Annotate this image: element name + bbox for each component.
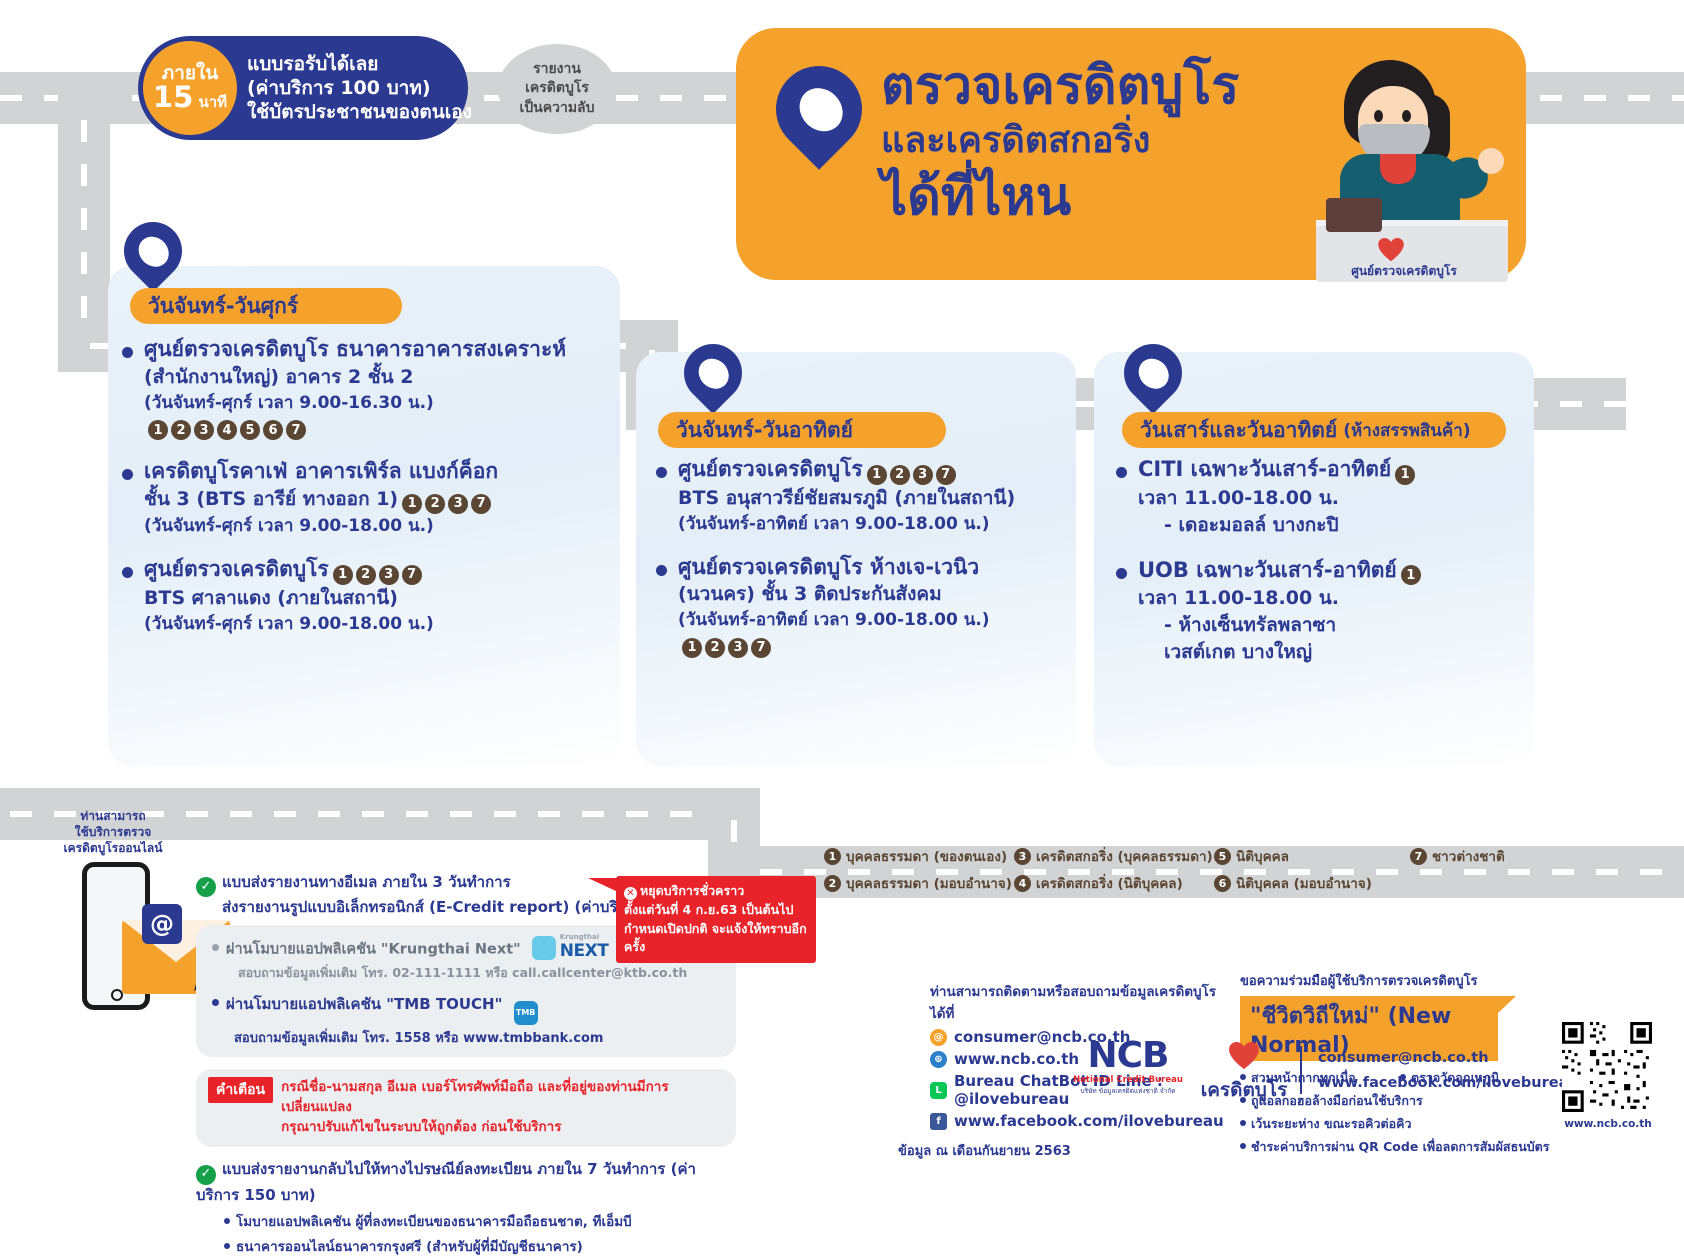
heart-icon-footer: [1229, 1042, 1259, 1070]
list-weekday: ศูนย์ตรวจเครดิตบูโร ธนาคารอาคารสงเคราะห์…: [118, 336, 618, 654]
krungthai-mark-icon: [532, 936, 556, 960]
location-name: ศูนย์ตรวจเครดิตบูโร ห้างเจ-เวนิว: [652, 554, 1072, 582]
qr-code-label: www.ncb.co.th: [1558, 1118, 1658, 1130]
location-name: UOB เฉพาะวันเสาร์-อาทิตย์1: [1112, 557, 1532, 586]
service-type-badge: 1: [682, 638, 702, 658]
legend-item: 1บุคคลธรรมดา (ของตนเอง): [824, 845, 1014, 867]
suspended-line3: กำหนดเปิดปกติ จะแจ้งให้ทราบอีกครั้ง: [624, 920, 808, 958]
bullet-dot-blue: [212, 999, 219, 1006]
service-type-badge: 1: [867, 465, 887, 485]
location-name: ศูนย์ตรวจเครดิตบูโร1237: [118, 556, 618, 585]
service-type-badge: 7: [402, 565, 422, 585]
ncb-wordmark: NCB: [1068, 1038, 1188, 1074]
header-weekend-label: วันเสาร์และวันอาทิตย์: [1140, 414, 1337, 447]
legend-badge: 5: [1214, 848, 1231, 865]
suspended-line1: ✕หยุดบริการชั่วคราว: [624, 882, 808, 901]
legend-badge: 3: [1014, 848, 1031, 865]
online-label-line2: ใช้บริการตรวจ: [58, 824, 168, 840]
new-normal-item: ชำระค่าบริการผ่าน QR Code เพื่อลดการสัมผ…: [1240, 1137, 1560, 1157]
wait-service-pill: ภายใน 15 นาที แบบรอรับได้เลย (ค่าบริการ …: [138, 36, 468, 140]
location-detail-label: เวลา 11.00-18.00 น.: [1138, 587, 1339, 609]
service-type-badge: 3: [913, 465, 933, 485]
footer-divider: [1300, 1046, 1302, 1094]
legend-badge: 6: [1214, 875, 1231, 892]
legend-label: บุคคลธรรมดา (ของตนเอง): [846, 845, 1007, 867]
new-normal-item: เว้นระยะห่าง ขณะรอคิวต่อคิว: [1240, 1114, 1560, 1134]
contact-title: ท่านสามารถติดตามหรือสอบถามข้อมูลเครดิตบู…: [930, 980, 1220, 1024]
warning-line1: กรณีชื่อ-นามสกุล อีเมล เบอร์โทรศัพท์มือถ…: [281, 1079, 669, 1115]
legend-badge: 7: [1410, 848, 1427, 865]
close-icon: ✕: [624, 887, 637, 900]
legend-item: 7ชาวต่างชาติ: [1410, 845, 1580, 867]
bullet-dot: [1240, 1120, 1246, 1126]
service-type-row: 1234567: [118, 417, 618, 441]
location-entry: เครดิตบูโรคาเฟ่ อาคารเพิร์ล แบงก์ค็อกชั้…: [118, 458, 618, 538]
header-banner: ตรวจเครดิตบูโร และเครดิตสกอริ่ง ได้ที่ไห…: [736, 28, 1526, 280]
wait-service-line1: แบบรอรับได้เลย: [247, 52, 472, 76]
service-type-badge: 3: [194, 420, 214, 440]
online-service-label: ท่านสามารถ ใช้บริการตรวจ เครดิตบูโรออนไล…: [58, 808, 168, 857]
credit-bureau-logo: เครดิตบูโร: [1196, 1042, 1292, 1105]
location-name-label: UOB เฉพาะวันเสาร์-อาทิตย์: [1138, 558, 1397, 582]
location-name-label: เครดิตบูโรคาเฟ่ อาคารเพิร์ล แบงก์ค็อก: [144, 459, 498, 483]
service-type-badge: 1: [402, 494, 422, 514]
new-normal-item-label: เว้นระยะห่าง ขณะรอคิวต่อคิว: [1251, 1116, 1411, 1131]
tmb-logo-icon: TMB: [514, 1001, 538, 1025]
location-detail: เวลา 11.00-18.00 น.: [1112, 585, 1532, 612]
at-symbol-icon: @: [142, 904, 182, 944]
qr-code-icon: [1562, 1022, 1652, 1112]
location-detail-label: (นวนคร) ชั้น 3 ติดประกันสังคม: [678, 583, 942, 605]
ncb-logo: NCB National Credit Bureau บริษัท ข้อมูล…: [1068, 1038, 1188, 1096]
email-title-line1: แบบส่งรายงานทางอีเมล ภายใน 3 วันทำการ: [222, 873, 511, 891]
service-type-badge: 2: [171, 420, 191, 440]
legend-badge: 2: [824, 875, 841, 892]
bullet-dot: [1240, 1143, 1246, 1149]
infographic-canvas: ภายใน 15 นาที แบบรอรับได้เลย (ค่าบริการ …: [0, 0, 1684, 1190]
location-name-label: ศูนย์ตรวจเครดิตบูโร: [678, 457, 863, 481]
location-detail: (นวนคร) ชั้น 3 ติดประกันสังคม: [652, 581, 1072, 608]
location-name: เครดิตบูโรคาเฟ่ อาคารเพิร์ล แบงก์ค็อก: [118, 458, 618, 486]
location-name: ศูนย์ตรวจเครดิตบูโร1237: [652, 456, 1072, 485]
service-type-badges: 1: [1395, 465, 1415, 485]
location-entry: CITI เฉพาะวันเสาร์-อาทิตย์1เวลา 11.00-18…: [1112, 456, 1532, 539]
check-icon-postal: ✓: [196, 1165, 216, 1185]
wait-service-text: แบบรอรับได้เลย (ค่าบริการ 100 บาท) ใช้บั…: [237, 52, 472, 125]
postal-delivery-block: ✓แบบส่งรายงานกลับไปให้ทางไปรษณีย์ลงทะเบี…: [196, 1159, 736, 1256]
header-everyday-label: วันจันทร์-วันอาทิตย์: [676, 414, 853, 447]
within-15-minutes-badge: ภายใน 15 นาที: [143, 41, 237, 135]
header-weekend-sub: (ห้างสรรพสินค้า): [1343, 417, 1470, 444]
heart-icon: [1378, 238, 1404, 262]
service-type-badge: 7: [936, 465, 956, 485]
service-type-badge: 3: [448, 494, 468, 514]
service-type-badges: 1237: [867, 465, 956, 485]
legend-label: ชาวต่างชาติ: [1432, 845, 1505, 867]
service-type-badge: 6: [263, 420, 283, 440]
location-detail: BTS อนุสาวรีย์ชัยสมรภูมิ (ภายในสถานี): [652, 485, 1072, 512]
bullet-dot: [224, 1218, 230, 1224]
location-detail: (สำนักงานใหญ่) อาคาร 2 ชั้น 2: [118, 364, 618, 391]
location-entry: UOB เฉพาะวันเสาร์-อาทิตย์1เวลา 11.00-18.…: [1112, 557, 1532, 666]
location-hours: (วันจันทร์-ศุกร์ เวลา 9.00-18.00 น.): [118, 612, 618, 636]
footer-links: consumer@ncb.co.th www.facebook.com/ilov…: [1318, 1046, 1579, 1095]
legend-badge: 1: [824, 848, 841, 865]
location-name-label: ศูนย์ตรวจเครดิตบูโร ห้างเจ-เวนิว: [678, 555, 979, 579]
postal-item-2-label: ธนาคารออนไลน์ธนาคารกรุงศรี (สำหรับผู้ที่…: [236, 1239, 583, 1255]
legend-label: เครดิตสกอริ่ง (นิติบุคคล): [1036, 872, 1183, 894]
banner-title-line1: ตรวจเครดิตบูโร: [881, 60, 1239, 112]
location-entry: ศูนย์ตรวจเครดิตบูโร ห้างเจ-เวนิว(นวนคร) …: [652, 554, 1072, 658]
legend-item-empty: [1410, 872, 1580, 894]
legend: 1บุคคลธรรมดา (ของตนเอง)3เครดิตสกอริ่ง (บ…: [824, 845, 1584, 894]
legend-badge: 4: [1014, 875, 1031, 892]
location-detail-label: BTS ศาลาแดง (ภายในสถานี): [144, 587, 398, 609]
service-type-badges: 1237: [333, 565, 422, 585]
right-hand: [1478, 148, 1504, 174]
location-hours: (วันจันทร์-อาทิตย์ เวลา 9.00-18.00 น.): [652, 608, 1072, 632]
service-type-badge: 7: [751, 638, 771, 658]
service-type-badge: 7: [471, 494, 491, 514]
service-type-badges: 1237: [402, 494, 491, 514]
location-name-label: ศูนย์ตรวจเครดิตบูโร ธนาคารอาคารสงเคราะห์: [144, 337, 566, 361]
credit-bureau-wordmark: เครดิตบูโร: [1196, 1075, 1292, 1105]
confidential-line2: เครดิตบูโร: [525, 79, 589, 99]
location-hours: (วันจันทร์-อาทิตย์ เวลา 9.00-18.00 น.): [652, 512, 1072, 536]
service-type-badge: 1: [1401, 565, 1421, 585]
legend-label: นิติบุคคล (มอบอำนาจ): [1236, 872, 1372, 894]
location-hours: (วันจันทร์-ศุกร์ เวลา 9.00-18.00 น.): [118, 514, 618, 538]
banner-title-line2: และเครดิตสกอริ่ง: [881, 118, 1239, 163]
list-everyday: ศูนย์ตรวจเครดิตบูโร1237BTS อนุสาวรีย์ชัย…: [652, 456, 1072, 676]
warning-line2: กรุณาปรับแก้ไขในระบบให้ถูกต้อง ก่อนใช้บร…: [281, 1119, 561, 1135]
confidential-line3: เป็นความลับ: [519, 99, 594, 119]
location-detail-label: (สำนักงานใหญ่) อาคาร 2 ชั้น 2: [144, 366, 414, 388]
location-entry: ศูนย์ตรวจเครดิตบูโร1237BTS อนุสาวรีย์ชัย…: [652, 456, 1072, 536]
warning-tag: คำเตือน: [208, 1077, 273, 1103]
tmb-sub: สอบถามข้อมูลเพิ่มเติม โทร. 1558 หรือ www…: [212, 1027, 722, 1048]
location-name-label: CITI เฉพาะวันเสาร์-อาทิตย์: [1138, 457, 1391, 481]
service-type-badge: 5: [240, 420, 260, 440]
service-type-badges: 1: [1401, 565, 1421, 585]
footer-date: ข้อมูล ณ เดือนกันยายน 2563: [898, 1140, 1071, 1161]
krungthai-next-logo: Krungthai NEXT: [532, 934, 609, 961]
at-icon: @: [930, 1029, 947, 1046]
badge-unit: นาที: [199, 93, 228, 111]
legend-item: 5นิติบุคคล: [1214, 845, 1410, 867]
left-eye: [1374, 110, 1383, 122]
contact-item-label: www.facebook.com/ilovebureau: [954, 1112, 1224, 1130]
list-weekend: CITI เฉพาะวันเสาร์-อาทิตย์1เวลา 11.00-18…: [1112, 456, 1532, 684]
legend-item: 3เครดิตสกอริ่ง (บุคคลธรรมดา): [1014, 845, 1214, 867]
suspended-line2: ตั้งแต่วันที่ 4 ก.ย.63 เป็นต้นไป: [624, 901, 808, 920]
location-name-label: ศูนย์ตรวจเครดิตบูโร: [144, 557, 329, 581]
krungthai-label: ผ่านโมบายแอปพลิเคชัน "Krungthai Next": [226, 942, 521, 958]
ncb-subtitle-th: บริษัท ข้อมูลเครดิตแห่งชาติ จำกัด: [1068, 1086, 1188, 1096]
right-eye: [1402, 110, 1411, 122]
banner-title-line3: ได้ที่ไหน: [881, 171, 1239, 223]
online-label-line1: ท่านสามารถ: [58, 808, 168, 824]
location-entry: ศูนย์ตรวจเครดิตบูโร1237BTS ศาลาแดง (ภายใ…: [118, 556, 618, 636]
footer-email[interactable]: consumer@ncb.co.th: [1318, 1046, 1579, 1071]
legend-label: บุคคลธรรมดา (มอบอำนาจ): [846, 872, 1012, 894]
location-detail-label: BTS อนุสาวรีย์ชัยสมรภูมิ (ภายในสถานี): [678, 487, 1015, 509]
location-detail-label: เวลา 11.00-18.00 น.: [1138, 487, 1339, 509]
location-hours: - เดอะมอลล์ บางกะปิ: [1112, 512, 1532, 539]
service-type-badge: 1: [148, 420, 168, 440]
postal-item-1-label: โมบายแอปพลิเคชัน ผู้ที่ลงทะเบียนของธนาคา…: [236, 1214, 632, 1230]
service-type-badge: 4: [217, 420, 237, 440]
postal-item-2: ธนาคารออนไลน์ธนาคารกรุงศรี (สำหรับผู้ที่…: [196, 1235, 736, 1257]
service-type-badge: 2: [356, 565, 376, 585]
postal-title-label: แบบส่งรายงานกลับไปให้ทางไปรษณีย์ลงทะเบีย…: [196, 1160, 696, 1203]
location-pin-icon: [758, 48, 880, 170]
service-suspended-notice: ✕หยุดบริการชั่วคราว ตั้งแต่วันที่ 4 ก.ย.…: [616, 876, 816, 963]
location-detail: BTS ศาลาแดง (ภายในสถานี): [118, 585, 618, 612]
postal-item-1: โมบายแอปพลิเคชัน ผู้ที่ลงทะเบียนของธนาคา…: [196, 1210, 736, 1232]
legend-item: 4เครดิตสกอริ่ง (นิติบุคคล): [1014, 872, 1214, 894]
confidential-line1: รายงาน: [533, 60, 581, 80]
header-weekday-label: วันจันทร์-วันศุกร์: [148, 290, 298, 323]
legend-label: นิติบุคคล: [1236, 845, 1289, 867]
location-detail: ชั้น 3 (BTS อารีย์ ทางออก 1)1237: [118, 486, 618, 514]
line-icon: L: [930, 1082, 947, 1099]
staff-illustration: ศูนย์ตรวจเครดิตบูโร: [1292, 50, 1512, 280]
location-name: ศูนย์ตรวจเครดิตบูโร ธนาคารอาคารสงเคราะห์: [118, 336, 618, 364]
legend-label: เครดิตสกอริ่ง (บุคคลธรรมดา): [1036, 845, 1213, 867]
service-type-badges: 1234567: [148, 420, 306, 440]
service-type-badge: 2: [425, 494, 445, 514]
krungthai-logo-word: NEXT: [560, 941, 609, 961]
krungthai-sub: สอบถามข้อมูลเพิ่มเติม โทร. 02-111-1111 ห…: [212, 963, 722, 983]
confidential-report-note: รายงาน เครดิตบูโร เป็นความลับ: [498, 44, 616, 134]
location-entry: ศูนย์ตรวจเครดิตบูโร ธนาคารอาคารสงเคราะห์…: [118, 336, 618, 440]
legend-item: 6นิติบุคคล (มอบอำนาจ): [1214, 872, 1410, 894]
location-detail-label: ชั้น 3 (BTS อารีย์ ทางออก 1): [144, 488, 398, 510]
ncb-subtitle-en: National Credit Bureau: [1068, 1075, 1188, 1085]
monitor-shape: [1326, 198, 1382, 232]
krungthai-wordmark: Krungthai NEXT: [560, 934, 609, 961]
location-detail: เวลา 11.00-18.00 น.: [1112, 485, 1532, 512]
location-hours: (วันจันทร์-ศุกร์ เวลา 9.00-16.30 น.): [118, 391, 618, 415]
wait-service-line2: (ค่าบริการ 100 บาท): [247, 76, 472, 100]
service-type-badge: 3: [728, 638, 748, 658]
contact-item[interactable]: fwww.facebook.com/ilovebureau: [930, 1112, 1220, 1130]
tmb-label: ผ่านโมบายแอปพลิเคชัน "TMB TOUCH": [226, 995, 502, 1013]
bullet-dot: [212, 944, 219, 951]
service-type-badge: 7: [286, 420, 306, 440]
header-everyday: วันจันทร์-วันอาทิตย์: [658, 412, 946, 448]
banner-title-group: ตรวจเครดิตบูโร และเครดิตสกอริ่ง ได้ที่ไห…: [881, 60, 1239, 223]
counter-label: ศูนย์ตรวจเครดิตบูโร: [1300, 262, 1508, 281]
wait-service-line3: ใช้บัตรประชาชนของตนเอง: [247, 100, 472, 124]
new-normal-title: ขอความร่วมมือผู้ใช้บริการตรวจเครดิตบูโร: [1240, 970, 1570, 991]
header-weekend: วันเสาร์และวันอาทิตย์ (ห้างสรรพสินค้า): [1122, 412, 1506, 448]
service-type-badge: 2: [890, 465, 910, 485]
service-type-badges: 1237: [682, 638, 771, 658]
service-type-badge: 3: [379, 565, 399, 585]
footer-facebook[interactable]: www.facebook.com/ilovebureau: [1318, 1071, 1579, 1096]
service-type-badge: 1: [1395, 465, 1415, 485]
warning-text: กรณีชื่อ-นามสกุล อีเมล เบอร์โทรศัพท์มือถ…: [281, 1077, 722, 1138]
warning-box: คำเตือน กรณีชื่อ-นามสกุล อีเมล เบอร์โทรศ…: [196, 1069, 736, 1148]
suspended-line1-label: หยุดบริการชั่วคราว: [640, 883, 744, 898]
badge-number: 15: [153, 80, 193, 114]
new-normal-item-label: ชำระค่าบริการผ่าน QR Code เพื่อลดการสัมผ…: [1251, 1139, 1550, 1154]
location-branch: เวสต์เกต บางใหญ่: [1112, 639, 1532, 666]
location-hours: - ห้างเซ็นทรัลพลาซา: [1112, 612, 1532, 639]
service-type-row: 1237: [652, 634, 1072, 658]
contact-item-label: www.ncb.co.th: [954, 1050, 1079, 1068]
check-icon-email: ✓: [196, 877, 216, 897]
legend-item: 2บุคคลธรรมดา (มอบอำนาจ): [824, 872, 1014, 894]
tmb-line: ผ่านโมบายแอปพลิเคชัน "TMB TOUCH" TMB: [212, 992, 722, 1025]
header-weekday: วันจันทร์-วันศุกร์: [130, 288, 402, 324]
service-type-badge: 1: [333, 565, 353, 585]
bullet-dot: [224, 1243, 230, 1249]
service-type-badge: 2: [705, 638, 725, 658]
krungthai-logo-top: Krungthai: [560, 934, 609, 941]
postal-title: ✓แบบส่งรายงานกลับไปให้ทางไปรษณีย์ลงทะเบี…: [196, 1159, 736, 1206]
globe-icon: ⊕: [930, 1051, 947, 1068]
red-notice-tail: [588, 878, 618, 892]
facebook-icon: f: [930, 1113, 947, 1130]
collar-shape: [1380, 154, 1416, 184]
online-label-line3: เครดิตบูโรออนไลน์: [58, 840, 168, 856]
location-name: CITI เฉพาะวันเสาร์-อาทิตย์1: [1112, 456, 1532, 485]
